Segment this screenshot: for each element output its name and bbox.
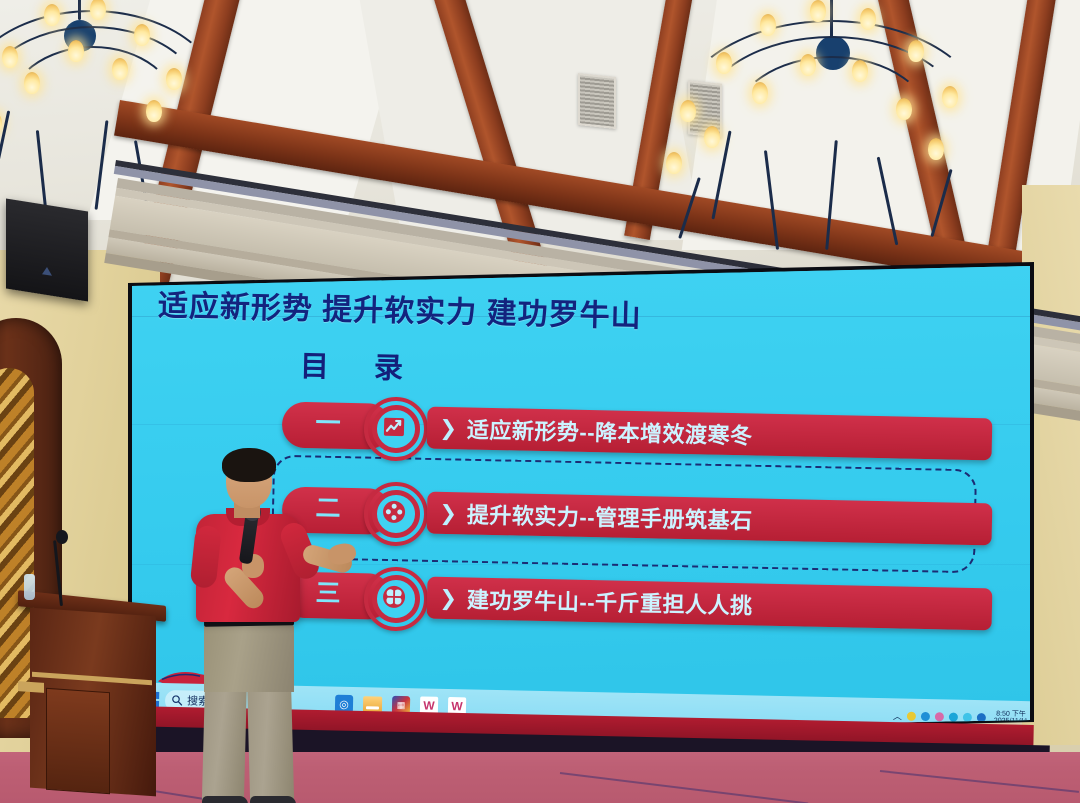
toc-item-2-label: 提升软实力--管理手册筑基石 (467, 497, 753, 535)
presenter-shoe-right (250, 796, 296, 803)
toc-item-1-numeral: 一 (282, 411, 375, 438)
volume-icon[interactable] (963, 712, 972, 721)
podium (10, 590, 170, 803)
network-icon[interactable] (921, 711, 930, 720)
security-icon[interactable] (907, 711, 916, 720)
wifi-icon[interactable] (949, 712, 958, 721)
presenter-pants (204, 622, 294, 692)
sync-icon[interactable] (935, 712, 944, 721)
bluetooth-icon[interactable] (977, 713, 986, 722)
air-vent (578, 73, 616, 129)
toc-item-3-label: 建功罗牛山--千斤重担人人挑 (467, 582, 753, 620)
podium-front-panel (46, 688, 110, 794)
podium-name-plate (18, 681, 44, 693)
toc-item-3-bar[interactable]: ❯ 建功罗牛山--千斤重担人人挑 (427, 577, 992, 631)
presenter-shoe-left (202, 796, 248, 803)
toc-item-1-label: 适应新形势--降本增效渡寒冬 (467, 412, 753, 450)
presenter (160, 450, 400, 803)
presenter-hair (222, 448, 276, 482)
podium-microphone-head (56, 530, 68, 544)
chevron-right-icon: ❯ (439, 415, 457, 440)
chevron-right-icon: ❯ (439, 585, 457, 610)
chevron-right-icon: ❯ (439, 500, 457, 525)
toc-item-1-bar[interactable]: ❯ 适应新形势--降本增效渡寒冬 (427, 407, 992, 461)
tray-chevron-icon[interactable]: ︿ (893, 709, 902, 722)
toc-item-2-bar[interactable]: ❯ 提升软实力--管理手册筑基石 (427, 492, 992, 546)
slide-heading: 目 录 (300, 343, 412, 387)
chandelier-right (660, 0, 980, 290)
water-bottle (24, 574, 35, 600)
conference-hall-photo: 适应新形势 提升软实力 建功罗牛山 目 录 一 ❯ 适应新形势--降本增效渡寒冬 (0, 0, 1080, 803)
trending-chart-icon (382, 415, 406, 439)
wall-speaker (6, 199, 88, 302)
